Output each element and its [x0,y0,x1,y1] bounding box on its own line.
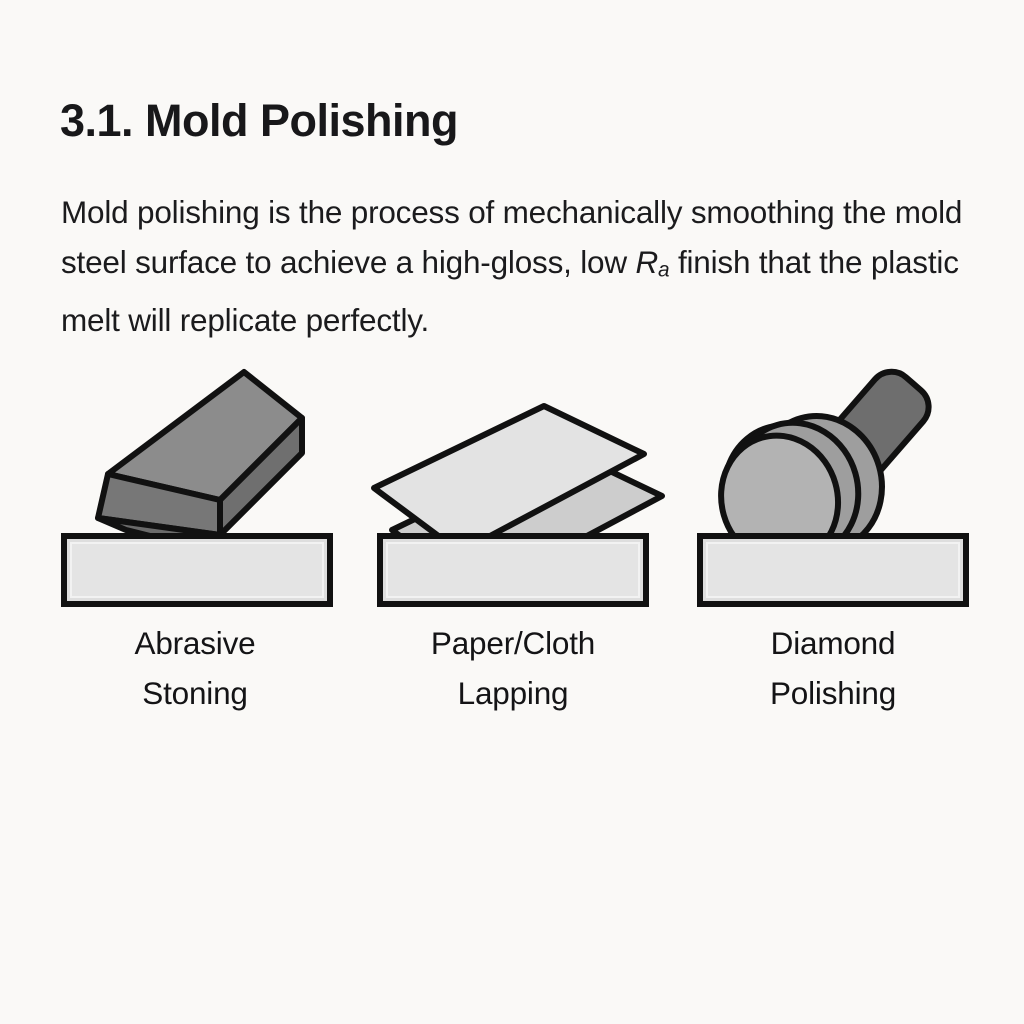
caption-line-1: Abrasive [30,618,360,668]
mold-steel-workpiece-bar [64,536,330,604]
workpiece-inner-highlight [71,543,323,597]
paper-cloth-lapping-illustration [348,350,678,615]
abrasive-stone-block [98,372,302,546]
polishing-methods-figure: Abrasive Stoning [0,0,1024,420]
panel-abrasive-stoning: Abrasive Stoning [30,350,360,750]
caption-abrasive-stoning: Abrasive Stoning [30,618,360,718]
caption-line-1: Diamond [668,618,998,668]
page-root: 3.1. Mold Polishing Mold polishing is th… [0,0,1024,1024]
workpiece-inner-highlight [707,543,959,597]
panel-paper-cloth-lapping: Paper/Cloth Lapping [348,350,678,750]
caption-line-2: Polishing [668,668,998,718]
panel-diamond-polishing: Diamond Polishing [668,350,998,750]
diamond-polishing-illustration [668,350,998,615]
mold-steel-workpiece-bar [700,536,966,604]
workpiece-inner-highlight [387,543,639,597]
caption-diamond-polishing: Diamond Polishing [668,618,998,718]
caption-line-1: Paper/Cloth [348,618,678,668]
caption-line-2: Stoning [30,668,360,718]
caption-line-2: Lapping [348,668,678,718]
caption-paper-cloth-lapping: Paper/Cloth Lapping [348,618,678,718]
mold-steel-workpiece-bar [380,536,646,604]
abrasive-stoning-illustration [30,350,360,615]
